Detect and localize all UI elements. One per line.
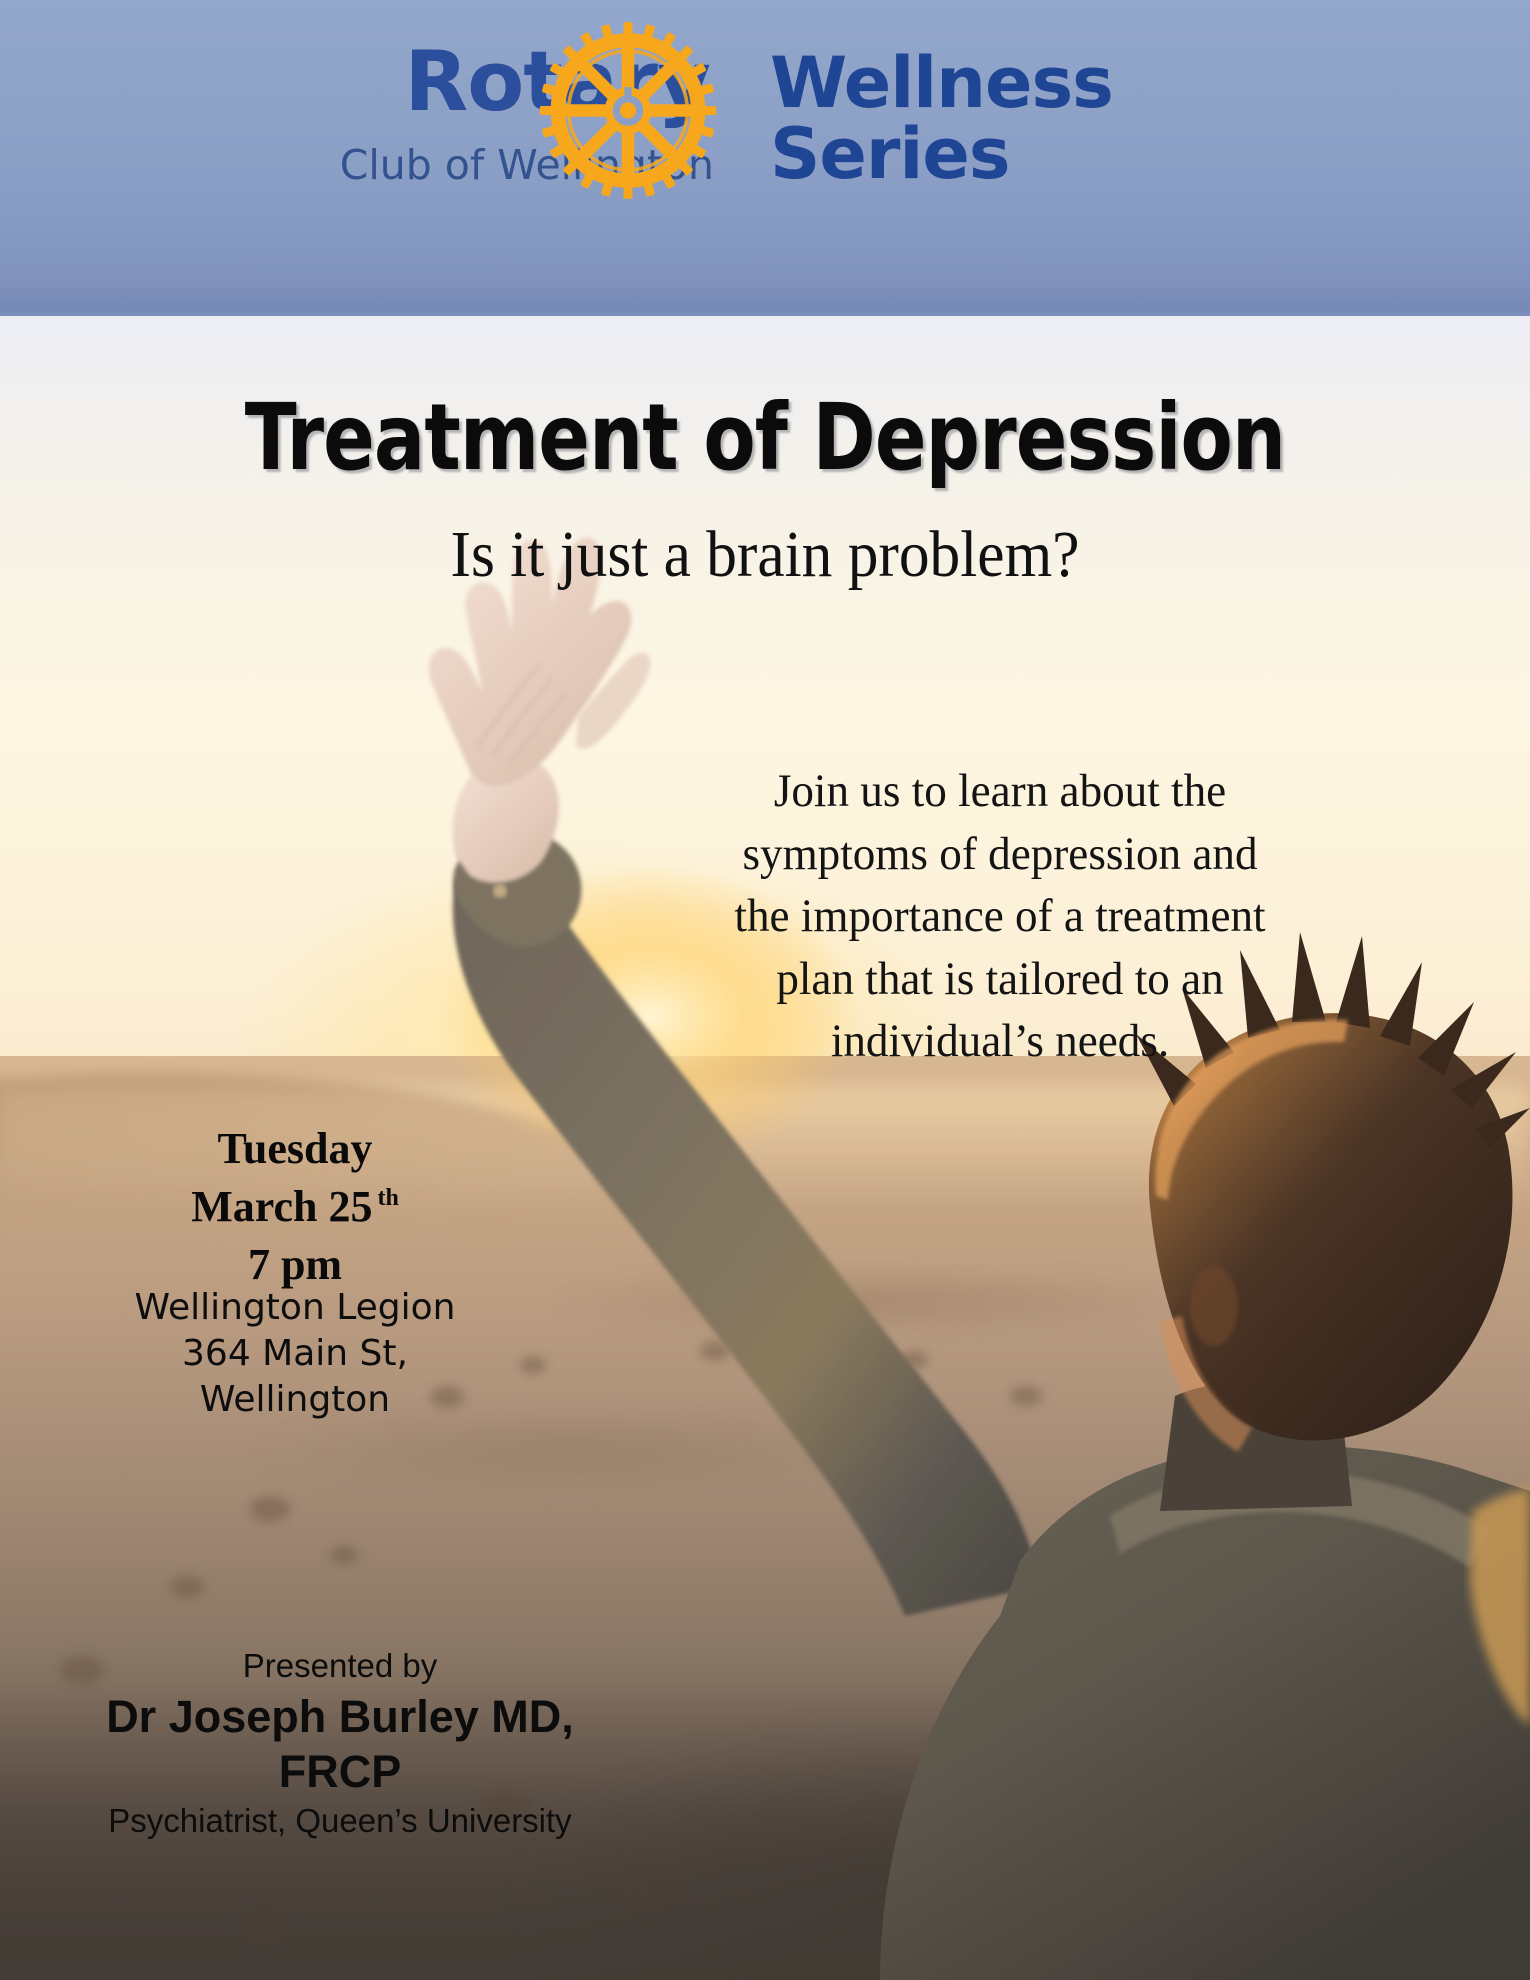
presenter-role: Psychiatrist, Queen’s University — [40, 1800, 640, 1841]
event-location-block: Wellington Legion 364 Main St, Wellingto… — [85, 1285, 505, 1423]
event-venue: Wellington Legion — [85, 1285, 505, 1331]
event-description: Join us to learn about the symptoms of d… — [712, 760, 1288, 1073]
presenter-block: Presented by Dr Joseph Burley MD, FRCP P… — [40, 1645, 640, 1841]
rotary-banner: Rotary Club of Wellington — [0, 0, 1530, 316]
rotary-wheel-icon — [538, 18, 718, 203]
event-date-text: March 25 — [191, 1182, 372, 1231]
series-title: Wellness Series — [770, 48, 1113, 191]
series-title-line2: Series — [770, 119, 1113, 190]
event-day: Tuesday — [85, 1120, 505, 1178]
presenter-intro: Presented by — [40, 1645, 640, 1686]
event-address: 364 Main St, Wellington — [85, 1331, 505, 1423]
event-datetime-block: Tuesday March 25th 7 pm — [85, 1120, 505, 1294]
event-poster: Rotary Club of Wellington — [0, 0, 1530, 1980]
page-subtitle: Is it just a brain problem? — [54, 520, 1477, 589]
presenter-name: Dr Joseph Burley MD, FRCP — [40, 1690, 640, 1800]
page-title: Treatment of Depression — [61, 392, 1469, 484]
series-title-line1: Wellness — [770, 48, 1113, 119]
event-date-suffix: th — [372, 1185, 398, 1211]
event-date: March 25th — [85, 1178, 505, 1236]
